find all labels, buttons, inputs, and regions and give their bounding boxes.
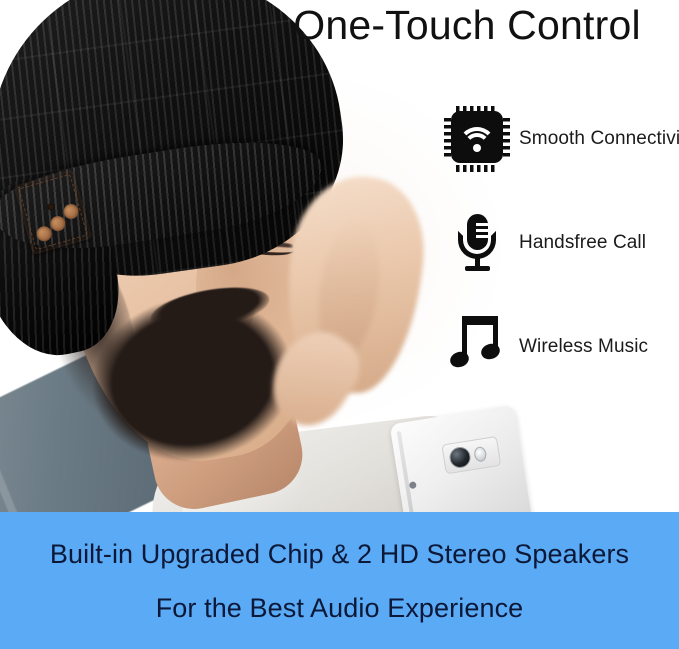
page-title: One-Touch Control (255, 2, 679, 48)
camera-flash-icon (473, 445, 487, 462)
mic-arc (458, 231, 496, 259)
feature-list: Smooth Connectivity Handsfr (444, 100, 679, 386)
phone-side-button (409, 481, 417, 489)
product-feature-image: One-Touch Control (0, 0, 679, 649)
feature-item-handsfree: Handsfree Call (444, 204, 679, 282)
note-head-right (479, 341, 502, 361)
wifi-chip-icon (444, 106, 510, 172)
banner-line-2: For the Best Audio Experience (156, 592, 524, 624)
product-photo: One-Touch Control (0, 0, 679, 512)
note-glyph (454, 316, 500, 374)
banner-line-1: Built-in Upgraded Chip & 2 HD Stereo Spe… (50, 538, 629, 570)
music-note-icon (444, 314, 510, 380)
chip-pins (444, 106, 510, 172)
note-head-left (448, 349, 471, 369)
feature-label-handsfree: Handsfree Call (519, 232, 646, 254)
camera-lens-icon (448, 445, 472, 469)
feature-label-music: Wireless Music (519, 336, 648, 358)
feature-item-music: Wireless Music (444, 308, 679, 386)
mic-base (465, 266, 490, 271)
feature-label-connectivity: Smooth Connectivity (519, 128, 679, 150)
bottom-banner: Built-in Upgraded Chip & 2 HD Stereo Spe… (0, 512, 679, 649)
phone-camera-module (441, 436, 501, 474)
smartphone (390, 405, 533, 512)
mic-glyph (456, 214, 498, 272)
mic-grille-line (476, 223, 488, 226)
microphone-icon (444, 210, 510, 276)
feature-item-connectivity: Smooth Connectivity (444, 100, 679, 178)
